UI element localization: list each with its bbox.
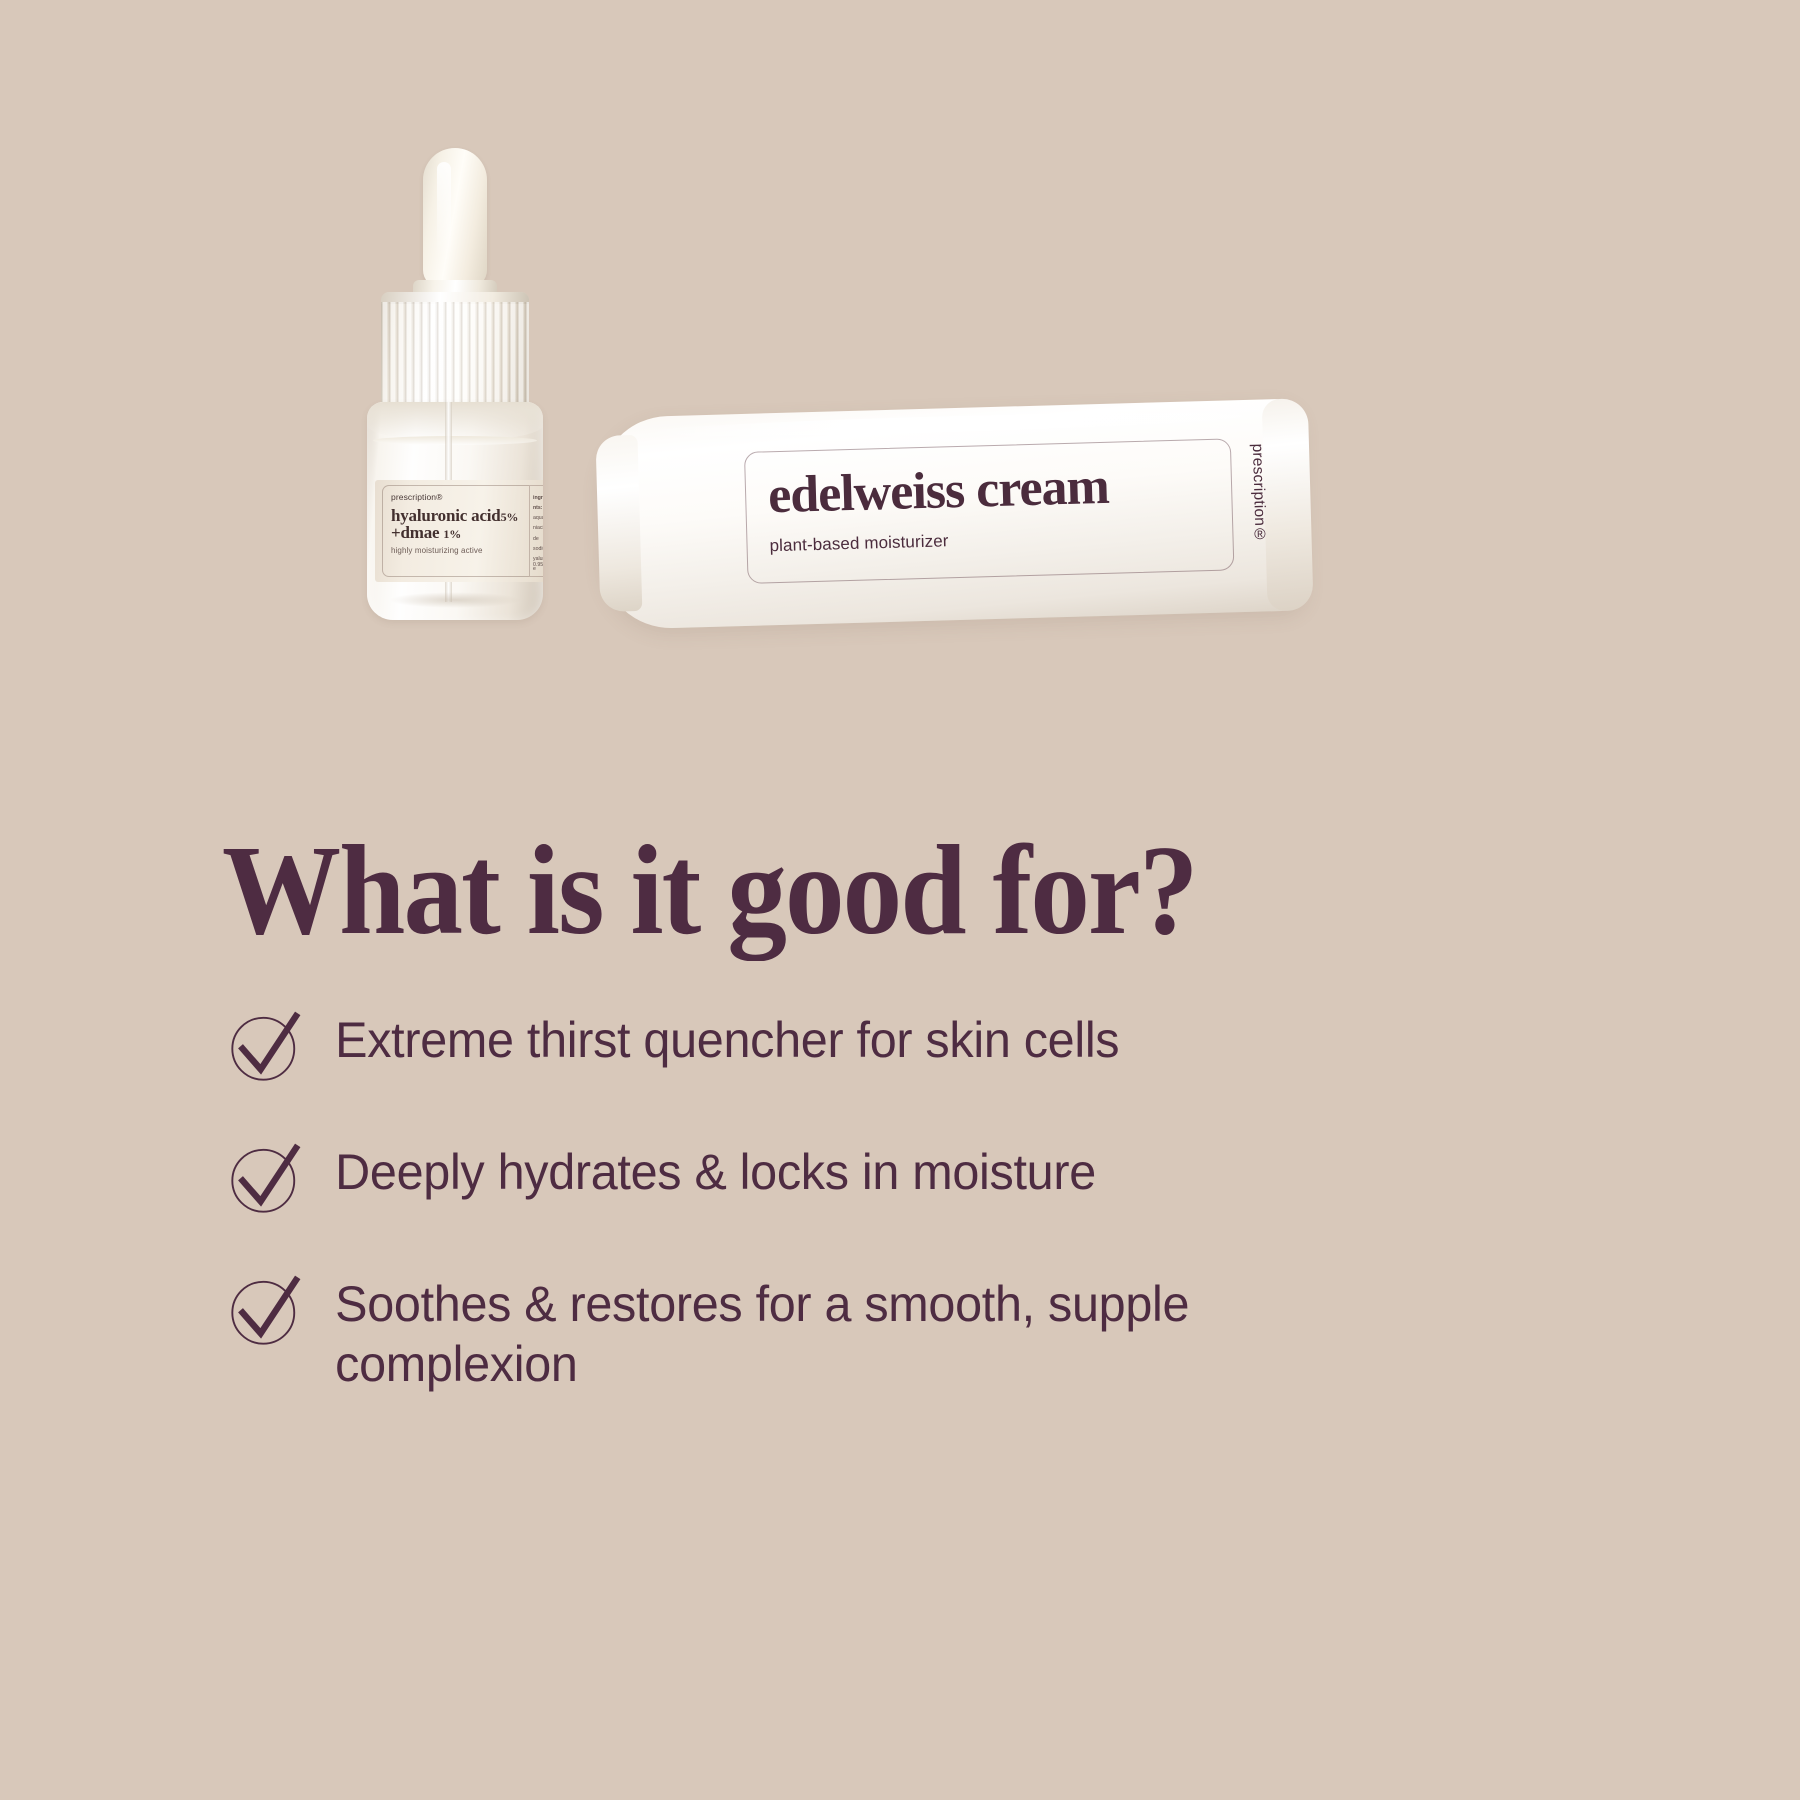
- edelweiss-cream-tube: edelweiss cream plant-based moisturizer …: [600, 400, 1305, 655]
- serum-fluid-line: [373, 436, 537, 445]
- product-benefits-card: prescription® hyaluronic acid5% +dmae 1%…: [0, 0, 1800, 1800]
- tube-product-subtitle: plant-based moisturizer: [769, 523, 1232, 556]
- serum-label-ingredients-panel: ingredients: aqua niacinamide sodium hya…: [529, 485, 543, 577]
- tube-cap: [595, 435, 642, 612]
- list-item: Deeply hydrates & locks in moisture: [222, 1142, 1622, 1222]
- ingredient-item: niacinamide: [533, 523, 543, 543]
- serum-tagline: highly moisturizing active: [391, 546, 529, 555]
- check-circle-icon: [222, 1136, 308, 1222]
- ingredient-item: sodium hyaluronate: [533, 544, 543, 574]
- tube-brand-text: prescription®: [1248, 443, 1269, 543]
- benefit-label: Extreme thirst quencher for skin cells: [308, 1010, 1119, 1070]
- serum-brand-text: prescription®: [391, 493, 529, 502]
- check-circle-icon: [222, 1004, 308, 1090]
- product-image-area: prescription® hyaluronic acid5% +dmae 1%…: [0, 0, 1800, 700]
- check-circle-icon: [222, 1268, 308, 1354]
- dropper-ribbed-cap: [381, 292, 529, 410]
- serum-label-main-panel: prescription® hyaluronic acid5% +dmae 1%…: [382, 485, 529, 577]
- page-title: What is it good for?: [222, 826, 1524, 954]
- cap-ribs-texture: [381, 302, 529, 410]
- ingredient-item: aqua: [533, 513, 543, 523]
- benefit-label: Soothes & restores for a smooth, supple …: [308, 1274, 1404, 1394]
- ingredient-item: potassium sorbate: [533, 574, 543, 577]
- serum-dropper-bottle: prescription® hyaluronic acid5% +dmae 1%…: [355, 140, 555, 620]
- serum-pct2: 1%: [443, 527, 461, 541]
- ingredients-heading: ingredients:: [533, 493, 543, 513]
- tube-body: edelweiss cream plant-based moisturizer …: [596, 380, 1308, 655]
- list-item: Soothes & restores for a smooth, supple …: [222, 1274, 1622, 1394]
- benefit-label: Deeply hydrates & locks in moisture: [308, 1142, 1096, 1202]
- serum-product-name: hyaluronic acid5% +dmae 1%: [391, 507, 529, 542]
- tube-product-title: edelweiss cream: [767, 457, 1231, 522]
- serum-pct1: 5%: [501, 510, 519, 524]
- serum-name-line1: hyaluronic acid: [391, 506, 501, 525]
- bottle-shoulder: [367, 402, 543, 440]
- tube-crimped-end: [1262, 398, 1314, 611]
- serum-volume-text: 0.95 fl oz: [533, 562, 543, 568]
- benefits-list: Extreme thirst quencher for skin cells D…: [222, 1010, 1622, 1394]
- serum-name-line2: +dmae: [391, 523, 439, 542]
- serum-bottle-label: prescription® hyaluronic acid5% +dmae 1%…: [375, 480, 543, 582]
- dropper-bulb-icon: [423, 148, 487, 288]
- list-item: Extreme thirst quencher for skin cells: [222, 1010, 1622, 1090]
- tube-label-frame: edelweiss cream plant-based moisturizer: [744, 438, 1234, 584]
- bottle-base-reflection: [389, 592, 521, 608]
- serum-glass-bottle: prescription® hyaluronic acid5% +dmae 1%…: [367, 402, 543, 620]
